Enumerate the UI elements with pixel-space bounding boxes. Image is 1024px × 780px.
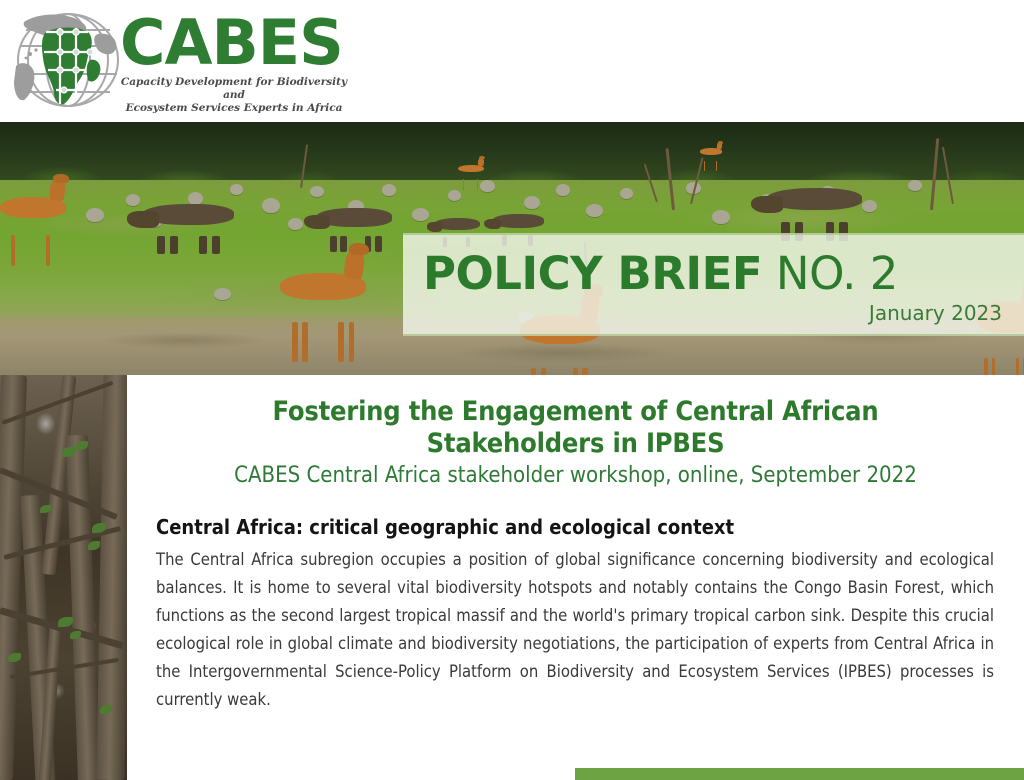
hero-warthog [316, 208, 392, 238]
hero-rock [126, 194, 140, 206]
hero-rock [556, 184, 570, 196]
hero-antelope [0, 190, 66, 238]
hero-rock [448, 190, 461, 201]
globe-africa-network-icon [12, 8, 124, 116]
cabes-logo: CABES Capacity Development for Biodivers… [12, 6, 372, 118]
policy-brief-banner: POLICY BRIEF NO. 2 January 2023 [403, 233, 1024, 336]
logo-text-block: CABES Capacity Development for Biodivers… [120, 10, 350, 115]
hero-antelope [700, 146, 722, 162]
hero-rock [86, 208, 104, 222]
hero-rock [412, 208, 429, 221]
section-paragraph: The Central Africa subregion occupies a … [156, 546, 994, 714]
policy-brief-page: CABES Capacity Development for Biodivers… [0, 0, 1024, 780]
hero-warthog [766, 188, 862, 224]
policy-brief-date: January 2023 [423, 301, 1010, 325]
hero-rock [908, 180, 922, 191]
forest-photo-strip [0, 375, 127, 780]
hero-rock [620, 188, 633, 199]
main-content: Fostering the Engagement of Central Afri… [127, 375, 1024, 780]
footer-accent-bar [575, 768, 1024, 780]
policy-brief-title: POLICY BRIEF NO. 2 [423, 249, 1010, 299]
hero-rock [382, 184, 396, 196]
logo-tagline-line-2: Ecosystem Services Experts in Africa [118, 102, 350, 115]
hero-rock [524, 196, 540, 209]
document-title: Fostering the Engagement of Central Afri… [127, 375, 1024, 460]
hero-rock [310, 186, 324, 197]
hero-rock [586, 204, 603, 217]
hero-rock [262, 198, 280, 213]
hero-warthog [142, 204, 234, 238]
hero-rock [288, 218, 303, 230]
hero-rock [712, 210, 730, 224]
hero-rock [230, 184, 243, 195]
logo-tagline: Capacity Development for Biodiversity an… [118, 76, 350, 115]
header-band: CABES Capacity Development for Biodivers… [0, 0, 1024, 122]
hero-antelope [280, 264, 366, 326]
hero-savanna-photo: POLICY BRIEF NO. 2 January 2023 [0, 122, 1024, 375]
hero-rock [214, 288, 231, 300]
document-title-line-1: Fostering the Engagement of Central Afri… [157, 396, 994, 428]
policy-brief-title-number: NO. 2 [776, 247, 898, 300]
logo-wordmark: CABES [120, 12, 350, 74]
section-heading: Central Africa: critical geographic and … [156, 514, 1024, 540]
hero-rock [862, 200, 877, 212]
document-subtitle: CABES Central Africa stakeholder worksho… [127, 460, 1024, 490]
document-title-line-2: Stakeholders in IPBES [157, 428, 994, 460]
policy-brief-title-bold: POLICY BRIEF [423, 247, 762, 300]
hero-antelope [458, 162, 484, 180]
logo-tagline-line-1: Capacity Development for Biodiversity an… [118, 76, 350, 102]
hero-rock [480, 180, 495, 192]
